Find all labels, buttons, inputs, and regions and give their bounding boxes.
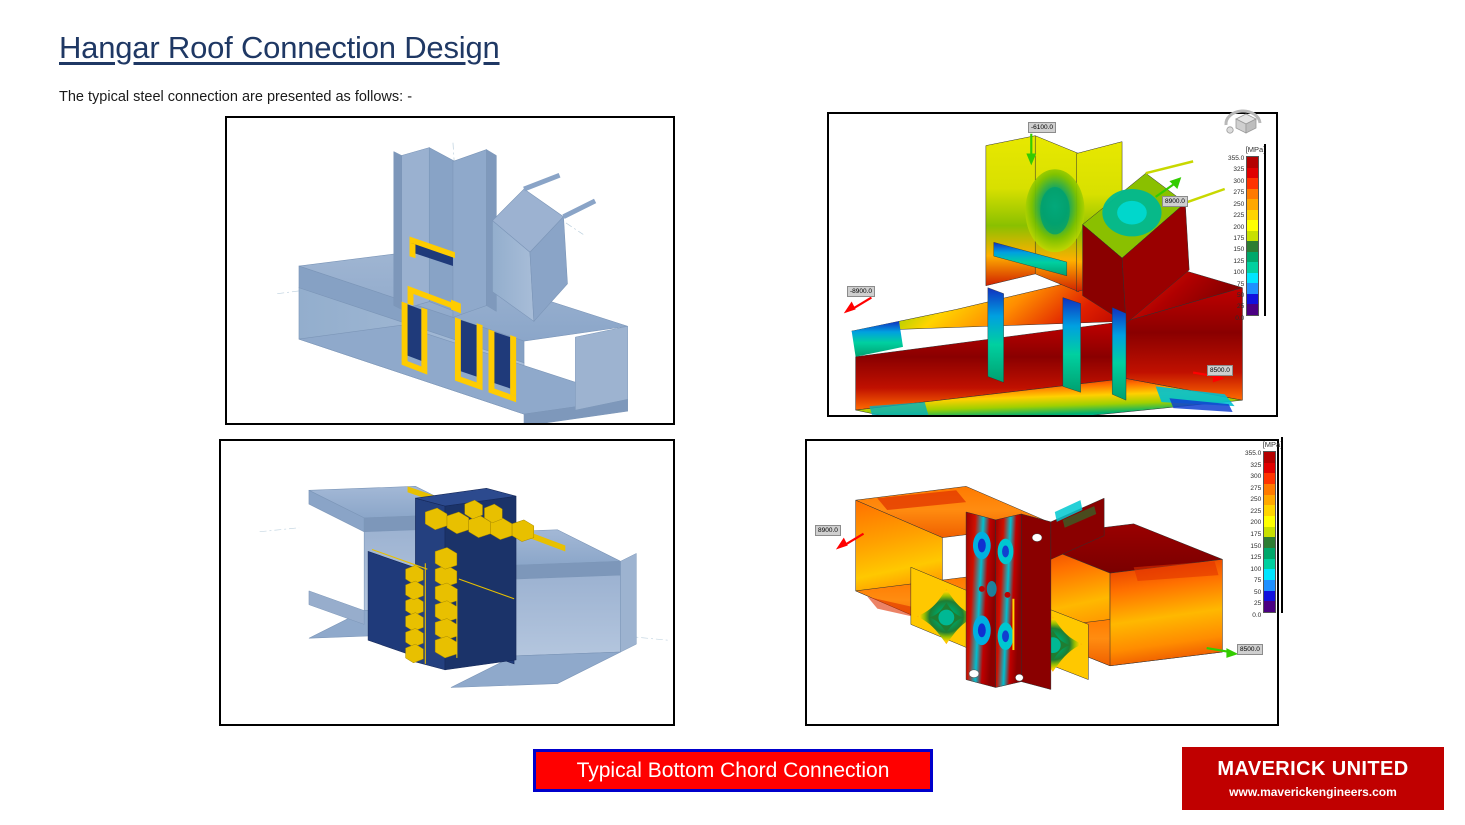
legend-color-segment [1264, 537, 1275, 548]
legend-color-segment [1247, 168, 1258, 179]
right-beam-web [514, 575, 620, 656]
legend-color-segment [1264, 591, 1275, 602]
legend-color-segment [1247, 210, 1258, 221]
legend-color-segment [1247, 252, 1258, 263]
stiffener-plate-2 [459, 319, 477, 376]
legend-color-segment [1247, 262, 1258, 273]
company-logo-block[interactable]: MAVERICK UNITED www.maverickengineers.co… [1182, 747, 1444, 810]
legend-color-segment [1247, 241, 1258, 252]
legend-color-segment [1264, 580, 1275, 591]
load-label-fea-top-2: 8900.0 [1162, 196, 1188, 207]
legend-color-segment [1264, 505, 1275, 516]
legend-color-segment [1264, 569, 1275, 580]
stress-legend-bottom: [MPa] 355.0 325 300 275 250 225 200 175 … [1245, 440, 1283, 613]
legend-color-segment [1247, 157, 1258, 168]
fea-column-web-1 [988, 288, 1004, 383]
legend-color-bar [1263, 451, 1276, 613]
cad-top-drawing [227, 118, 673, 423]
legend-color-segment [1247, 189, 1258, 200]
legend-color-segment [1247, 178, 1258, 189]
legend-divider [1264, 144, 1266, 316]
panel-cad-top-chord-model[interactable] [225, 116, 675, 425]
stiffener-plate-3 [492, 331, 510, 388]
legend-color-bar [1246, 156, 1259, 316]
caption-banner: Typical Bottom Chord Connection [533, 749, 933, 792]
legend-color-segment [1264, 495, 1275, 506]
panel-fea-top-chord-stress[interactable]: -6100.0 8900.0 -8900.0 8500.0 [827, 112, 1278, 417]
legend-color-segment [1247, 294, 1258, 305]
stiffener-plate-1 [406, 304, 422, 361]
legend-color-segment [1247, 304, 1258, 315]
legend-color-segment [1264, 548, 1275, 559]
legend-color-segment [1264, 484, 1275, 495]
load-label-fea-bottom-1: 8900.0 [815, 525, 841, 536]
legend-color-segment [1264, 527, 1275, 538]
caption-label: Typical Bottom Chord Connection [577, 759, 890, 783]
legend-tick-labels: 355.0 325 300 275 250 225 200 175 150 12… [1245, 451, 1263, 613]
legend-color-segment [1264, 601, 1275, 612]
page-title: Hangar Roof Connection Design [59, 30, 500, 66]
legend-color-segment [1247, 231, 1258, 242]
legend-tick-labels: 355.0 325 300 275 250 225 200 175 150 12… [1228, 156, 1246, 316]
load-label-fea-top-1: -6100.0 [1028, 122, 1056, 133]
legend-color-segment [1264, 452, 1275, 463]
legend-color-segment [1264, 463, 1275, 474]
legend-color-segment [1247, 220, 1258, 231]
view-cube-icon[interactable] [1222, 107, 1264, 139]
panel-fea-bolted-splice-stress[interactable]: 8900.0 8500.0 [805, 439, 1279, 726]
legend-color-segment [1247, 199, 1258, 210]
legend-color-segment [1264, 473, 1275, 484]
legend-unit-label: [MPa] [1228, 145, 1266, 154]
column-right-flange [453, 150, 487, 318]
load-label-fea-top-3: -8900.0 [847, 286, 875, 297]
subtitle-text: The typical steel connection are present… [59, 89, 412, 105]
legend-color-segment [1264, 559, 1275, 570]
legend-divider [1281, 437, 1283, 613]
legend-unit-label: [MPa] [1245, 440, 1283, 449]
load-label-fea-bottom-2: 8500.0 [1237, 644, 1263, 655]
fea-column-web-3 [1112, 307, 1126, 400]
fea-bottom-contour-plot [807, 441, 1277, 724]
legend-color-segment [1264, 516, 1275, 527]
legend-color-segment [1247, 273, 1258, 284]
company-name: MAVERICK UNITED [1217, 758, 1408, 781]
load-label-fea-top-4: 8500.0 [1207, 365, 1233, 376]
stress-legend-top: [MPa] 355.0 325 300 275 250 225 200 175 … [1228, 145, 1266, 316]
fea-column-web-2 [1063, 298, 1081, 393]
legend-color-segment [1247, 283, 1258, 294]
column-left-flange [402, 148, 430, 310]
panel-cad-bolted-splice-model[interactable] [219, 439, 675, 726]
cad-bottom-drawing [221, 441, 673, 724]
company-website[interactable]: www.maverickengineers.com [1229, 785, 1397, 799]
